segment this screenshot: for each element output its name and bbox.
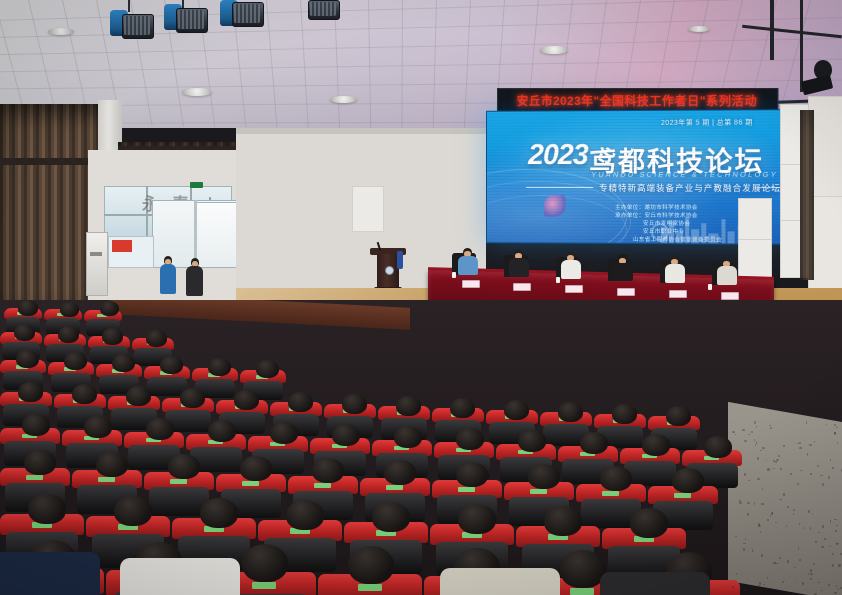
- audience-head: [704, 436, 732, 458]
- screen-organizer-line: 安丘市职业中专: [643, 227, 684, 235]
- audience-head: [114, 496, 152, 526]
- name-card: [565, 285, 583, 293]
- audience-head: [180, 388, 205, 408]
- audience-head: [126, 386, 151, 406]
- conference-hall-photo: 永 春 大 安丘市2023年"全国科技工作者日"系列活动: [0, 0, 842, 595]
- audience-head: [72, 384, 97, 404]
- exit-sign-icon: [190, 182, 203, 188]
- stage-light-fixture: [300, 0, 344, 30]
- audience-head: [558, 402, 583, 422]
- screen-year: 2023: [528, 139, 588, 172]
- audience-head: [14, 324, 35, 341]
- audience-head: [456, 428, 484, 450]
- water-cup: [452, 272, 456, 278]
- led-banner-text: 安丘市2023年"全国科技工作者日"系列活动: [517, 91, 758, 108]
- screen-issue-number: 2023年第 5 期 | 总第 86 期: [661, 117, 753, 127]
- audience-head: [342, 394, 367, 414]
- audience-head: [96, 452, 128, 477]
- audience-head: [450, 398, 475, 418]
- audience-shoulders: [600, 572, 710, 595]
- audience-head: [256, 360, 279, 378]
- audience-head: [456, 462, 488, 487]
- audience-head: [286, 500, 324, 530]
- audience-head: [146, 418, 174, 440]
- ceiling-downlight: [330, 96, 357, 103]
- audience-shoulders: [120, 558, 240, 595]
- panelist: [665, 256, 685, 284]
- audience-head: [458, 504, 496, 534]
- audience-head: [242, 544, 288, 582]
- audience-head: [384, 460, 416, 485]
- audience-head: [312, 458, 344, 483]
- ceiling-downlight: [182, 88, 212, 96]
- screen-divider: [526, 187, 593, 188]
- audience-head: [288, 392, 313, 412]
- audience-head: [394, 426, 422, 448]
- air-conditioner-unit: [86, 232, 108, 296]
- kite-graphic: [544, 195, 566, 217]
- stage-light-fixture: [218, 0, 264, 44]
- stage-light-fixture: [160, 0, 206, 50]
- water-cup: [556, 277, 560, 283]
- audience-head: [100, 301, 119, 316]
- ceiling-downlight: [688, 26, 710, 32]
- panelist: [717, 258, 737, 286]
- screen-organizer-line: 安丘市发明家协会: [643, 219, 690, 227]
- name-card: [462, 280, 480, 288]
- door-frame: [194, 200, 197, 266]
- audience-head: [22, 414, 50, 436]
- standing-person-rear-left-2: [186, 258, 203, 298]
- ceiling-downlight: [48, 28, 74, 35]
- wall-acoustic-panel: [738, 198, 772, 240]
- audience-head: [600, 466, 632, 491]
- rig-pole: [800, 0, 803, 92]
- screen-organizer-line: 承办单位：安丘市科学技术协会: [615, 211, 698, 219]
- aisle-carpet: [728, 402, 842, 595]
- audience-head: [348, 546, 394, 584]
- name-card: [513, 283, 531, 291]
- audience-head: [270, 422, 298, 444]
- audience-head: [200, 498, 238, 528]
- wall-curtain-right: [800, 110, 814, 280]
- audience-head: [60, 302, 79, 317]
- audience-head: [24, 450, 56, 475]
- audience-head: [58, 326, 79, 343]
- water-cup: [708, 284, 712, 290]
- audience-head: [18, 300, 38, 316]
- audience-head: [666, 406, 691, 426]
- wall-trim: [236, 128, 486, 134]
- audience-head: [28, 494, 66, 524]
- audience-head: [528, 464, 560, 489]
- audience-head: [208, 358, 231, 376]
- audience-head: [18, 382, 43, 402]
- audience-head: [234, 390, 259, 410]
- audience-head: [240, 456, 272, 481]
- screen-organizer-line: 主办单位：潍坊市科学技术协会: [615, 203, 698, 211]
- ac-vent-slot: [90, 252, 102, 256]
- audience-head: [64, 352, 87, 370]
- audience-head: [580, 432, 608, 454]
- audience-head: [16, 350, 39, 368]
- audience-head: [518, 430, 546, 452]
- audience-head: [332, 424, 360, 446]
- audience-head: [630, 508, 668, 538]
- audience-head: [544, 506, 582, 536]
- screen-organizer-line: 山东省工程师协会智能装备委员会: [633, 235, 722, 243]
- ceiling-downlight: [540, 46, 568, 54]
- audience-shoulders: [440, 568, 560, 595]
- audience-seating-area: [0, 300, 842, 595]
- screen-subtitle-cn: 专精特新高端装备产业与产教融合发展论坛: [599, 182, 781, 194]
- audience-head: [160, 356, 183, 374]
- audience-head: [84, 416, 112, 438]
- audience-head: [672, 468, 704, 493]
- screen-title-en: YUANDU SCIENCE & TECHNOLOGY FORUM: [591, 170, 787, 179]
- audience-head: [372, 502, 410, 532]
- lectern-side-panel: [397, 251, 403, 269]
- panelist: [458, 248, 478, 276]
- panelist: [613, 254, 633, 282]
- audience-head: [612, 404, 637, 424]
- audience-shoulders: [0, 552, 100, 595]
- audience-head: [112, 354, 135, 372]
- name-card: [721, 292, 739, 300]
- name-card: [617, 288, 635, 296]
- audience-head: [146, 330, 167, 347]
- audience-head: [208, 420, 236, 442]
- lectern-emblem-icon: [385, 266, 394, 275]
- front-desk-row: [110, 300, 410, 330]
- audience-head: [102, 328, 123, 345]
- audience-head: [168, 454, 200, 479]
- panelist: [509, 250, 529, 278]
- panelist: [561, 252, 581, 280]
- audience-head: [504, 400, 529, 420]
- standing-person-rear-left: [160, 256, 176, 296]
- name-card: [669, 290, 687, 298]
- stage-light-fixture: [108, 0, 154, 56]
- wall-acoustic-panel: [352, 186, 384, 232]
- wall-poster: [112, 240, 132, 252]
- audience-head: [396, 396, 421, 416]
- audience-head: [642, 434, 670, 456]
